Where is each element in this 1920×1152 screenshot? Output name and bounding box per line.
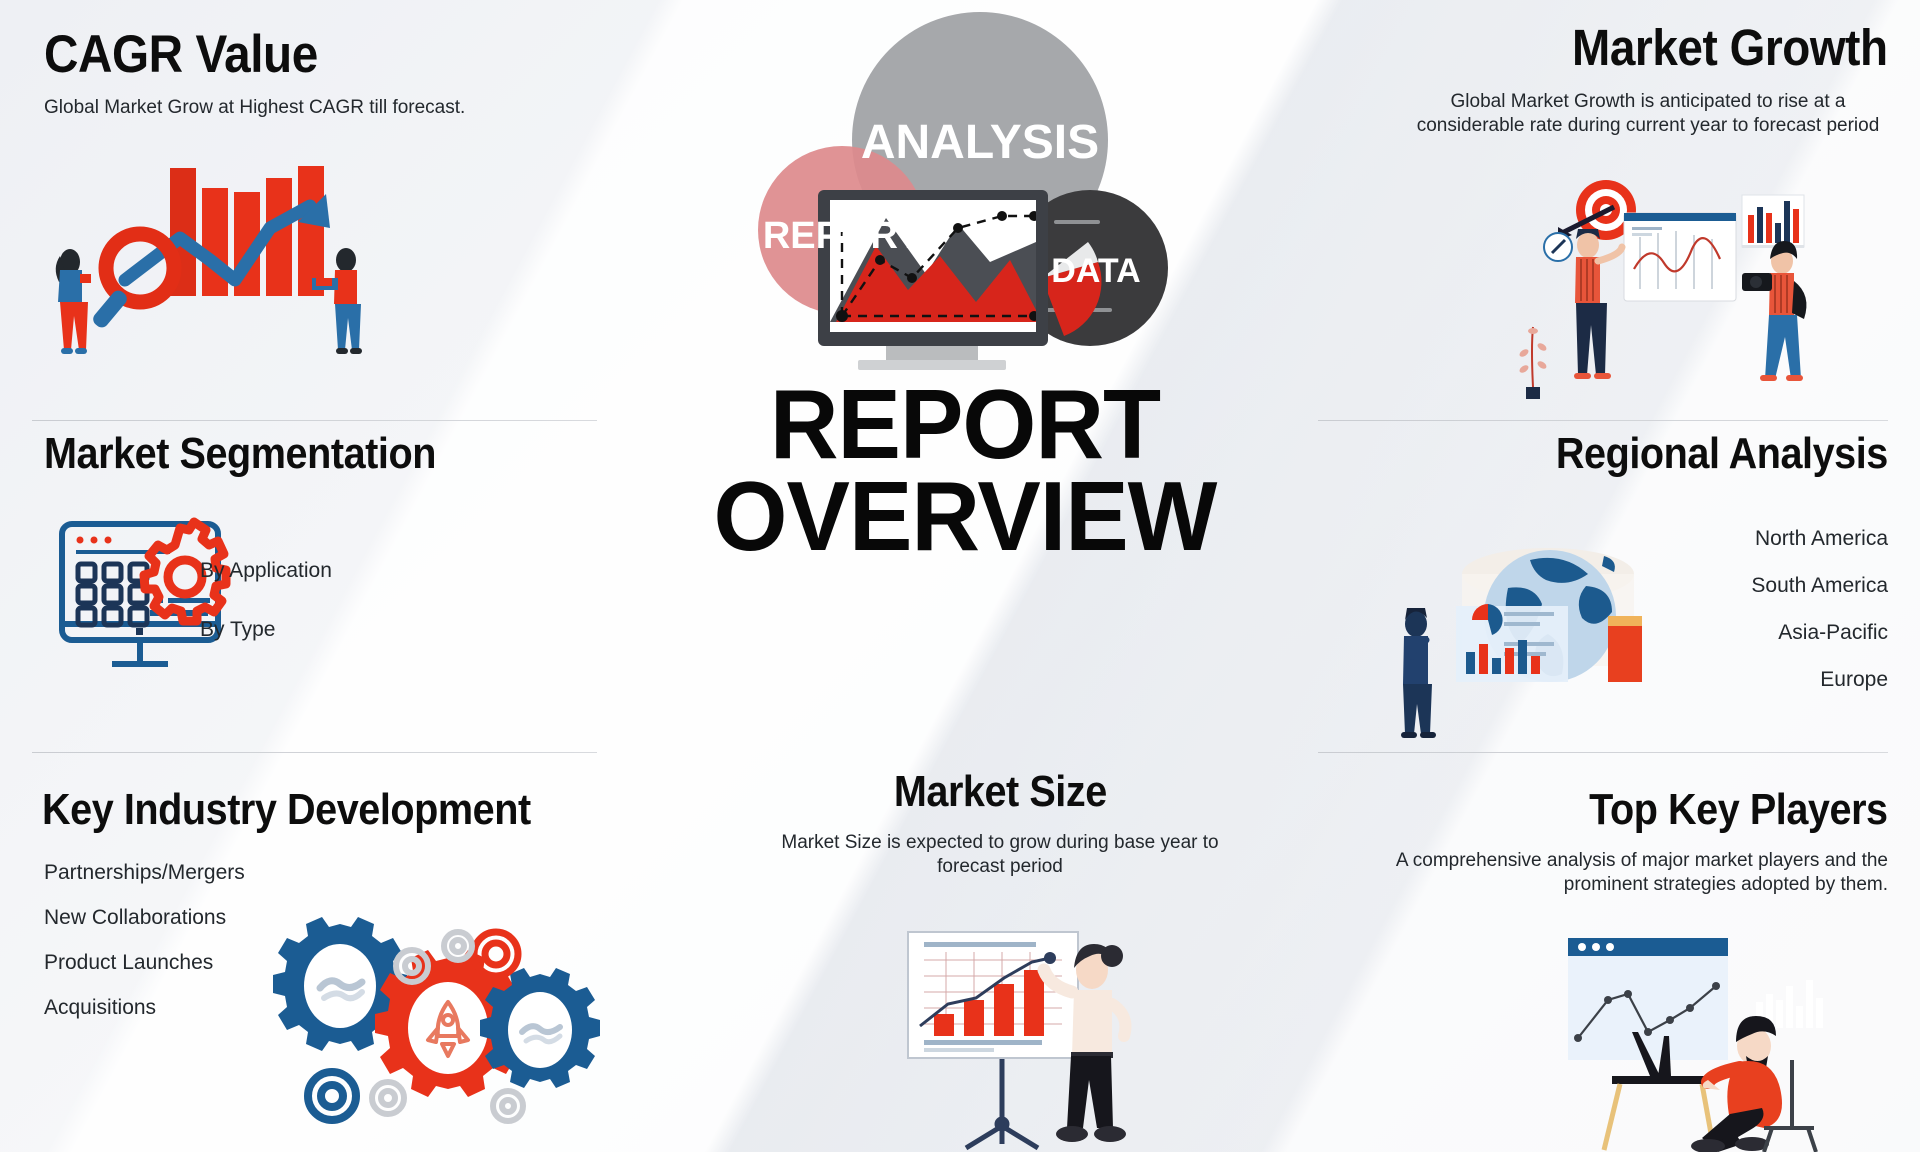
section-market-segmentation: Market Segmentation: [44, 432, 604, 477]
plant-decor-icon: [1518, 327, 1548, 399]
regional-analysis-title: Regional Analysis: [1556, 432, 1888, 477]
regional-analysis-items: North America South America Asia-Pacific…: [1540, 528, 1888, 690]
divider-right-top: [1318, 420, 1888, 421]
bubble-label-report: REPORT: [763, 215, 921, 257]
market-size-subtitle: Market Size is expected to grow during b…: [760, 831, 1240, 880]
person-observer-figure: [1401, 608, 1436, 738]
list-item: North America: [1540, 528, 1888, 549]
gear-small-red-top: [474, 932, 518, 976]
bubble-label-data: DATA: [1051, 252, 1140, 290]
main-title-line1: REPORT: [572, 378, 1358, 470]
list-item: By Type: [200, 619, 500, 640]
market-growth-title: Market Growth: [1572, 22, 1888, 74]
market-size-illustration: [890, 918, 1180, 1152]
bubble-label-analysis: ANALYSIS: [861, 116, 1099, 169]
market-segmentation-items: By Application By Type: [200, 560, 500, 640]
list-item: Partnerships/Mergers: [44, 862, 374, 883]
main-title-line2: OVERVIEW: [572, 470, 1358, 562]
top-key-players-subtitle: A comprehensive analysis of major market…: [1318, 849, 1888, 898]
section-key-industry-development: Key Industry Development: [42, 788, 722, 833]
grid-cells: [78, 564, 147, 625]
list-item: South America: [1540, 575, 1888, 596]
center-analysis-graphic: ANALYSIS REPORT DATA: [690, 10, 1230, 370]
key-industry-development-title: Key Industry Development: [42, 788, 654, 833]
gear-small-gray-d: [493, 1091, 523, 1121]
infographic-canvas: CAGR Value Global Market Grow at Highest…: [0, 0, 1920, 1152]
section-regional-analysis: Regional Analysis: [1318, 432, 1888, 477]
divider-right-bottom: [1318, 752, 1888, 753]
cagr-value-subtitle: Global Market Grow at Highest CAGR till …: [44, 96, 604, 120]
divider-left-bottom: [32, 752, 597, 753]
shelf-bar-chart-icon: [1742, 195, 1804, 248]
market-growth-illustration: [1510, 175, 1910, 410]
section-top-key-players: Top Key Players A comprehensive analysis…: [1318, 788, 1888, 898]
monitor-dots: [77, 537, 112, 544]
market-size-title: Market Size: [894, 770, 1107, 815]
section-market-size: Market Size Market Size is expected to g…: [760, 770, 1240, 880]
market-segmentation-title: Market Segmentation: [44, 432, 548, 477]
person-left-figure: [56, 249, 91, 354]
gear-small-blue-bottom: [308, 1072, 356, 1120]
gear-small-gray-b: [444, 932, 472, 960]
top-key-players-title: Top Key Players: [1590, 788, 1888, 833]
main-title: REPORT OVERVIEW: [572, 378, 1358, 562]
top-key-players-illustration: [1550, 928, 1880, 1152]
market-growth-subtitle: Global Market Growth is anticipated to r…: [1318, 90, 1888, 139]
browser-window: [1568, 938, 1728, 1060]
person-presenter-figure: [1574, 229, 1622, 379]
divider-left-top: [32, 420, 597, 421]
section-market-growth: Market Growth Global Market Growth is an…: [1318, 22, 1888, 139]
cagr-value-illustration: [30, 130, 410, 380]
chart-board: [908, 932, 1078, 1058]
gear-small-gray-c: [372, 1082, 404, 1114]
list-item: By Application: [200, 560, 500, 581]
person-camera-figure: [1742, 241, 1806, 381]
section-cagr-value: CAGR Value Global Market Grow at Highest…: [44, 28, 604, 120]
list-item: Asia-Pacific: [1540, 622, 1888, 643]
easel-stand: [966, 1058, 1038, 1148]
key-industry-development-illustration: [262, 910, 602, 1152]
compass-badge-icon: [1544, 233, 1572, 261]
cagr-value-title: CAGR Value: [44, 28, 548, 82]
list-item: Europe: [1540, 669, 1888, 690]
presentation-board: [1624, 213, 1736, 301]
